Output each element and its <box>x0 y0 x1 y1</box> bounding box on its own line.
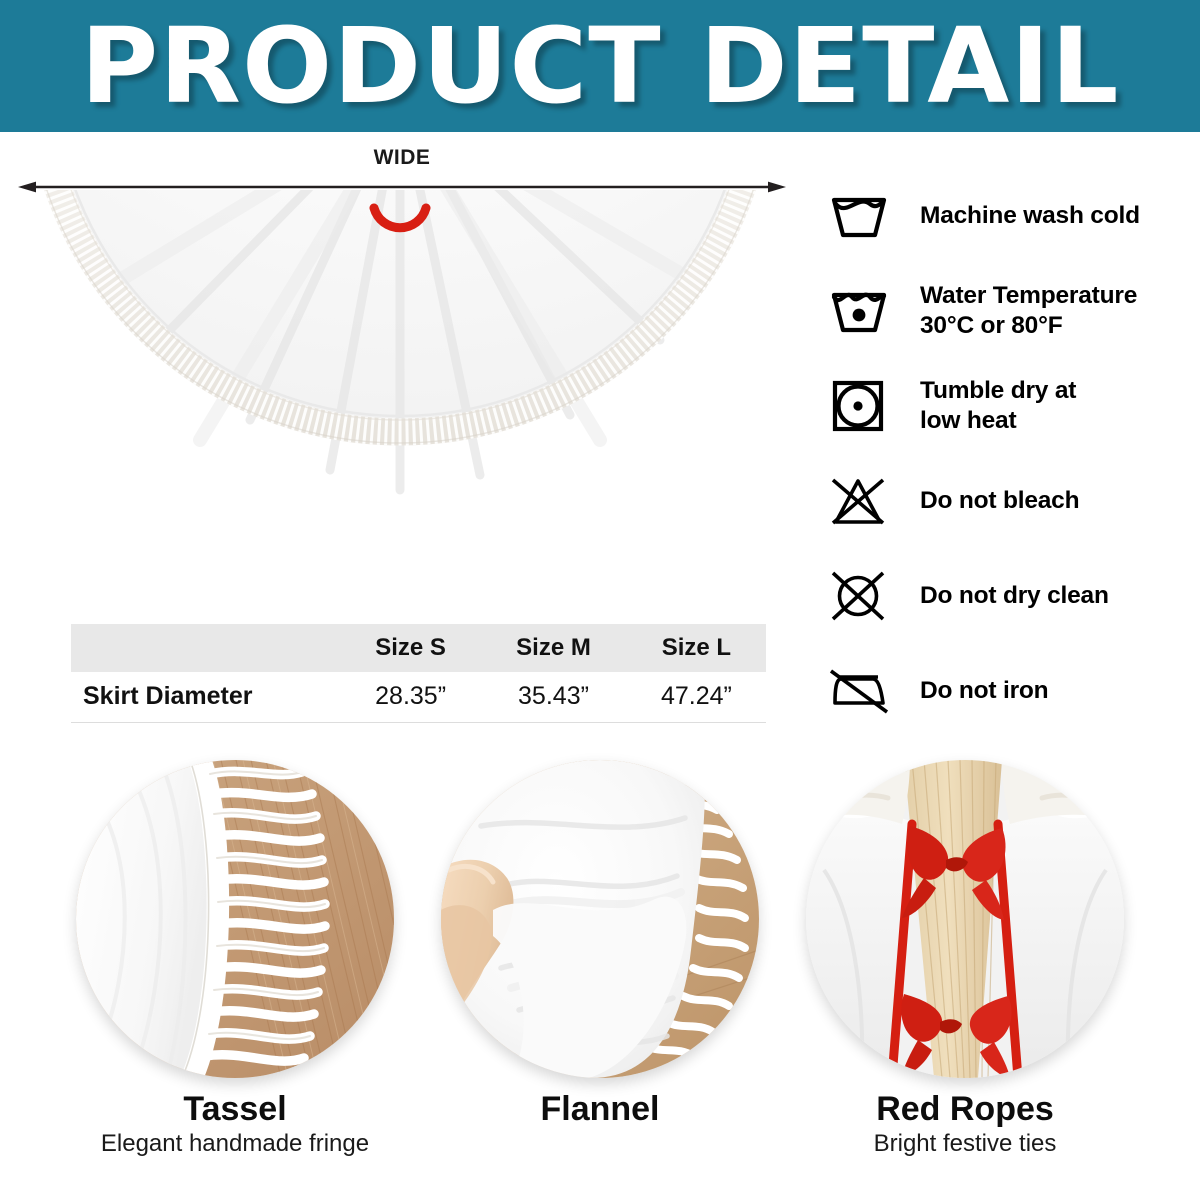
water-temperature-icon <box>828 280 900 342</box>
do-not-bleach-icon <box>828 470 900 532</box>
care-label-do-not-bleach: Do not bleach <box>900 486 1079 515</box>
care-row-do-not-bleach: Do not bleach <box>828 453 1196 548</box>
care-label-water-temperature: Water Temperature 30°C or 80°F <box>900 281 1137 340</box>
table-header-size-m: Size M <box>480 624 627 672</box>
care-instruction-list: Machine wash cold Water Temperature 30°C… <box>828 168 1196 738</box>
wide-dimension-callout: WIDE <box>18 146 786 194</box>
feature-title-red-ropes: Red Ropes <box>800 1090 1130 1128</box>
feature-red-ropes-photo <box>806 760 1124 1078</box>
table-header-corner <box>71 624 341 672</box>
table-cell-skirt-diameter-s: 28.35” <box>341 672 480 722</box>
feature-tassel: Tassel Elegant handmade fringe <box>70 760 400 1158</box>
feature-tassel-image-wrap <box>76 760 394 1078</box>
flannel-closeup-illustration <box>441 760 759 1078</box>
product-photo-tree-skirt <box>0 190 800 610</box>
feature-flannel-photo <box>441 760 759 1078</box>
red-ropes-closeup-illustration <box>806 760 1124 1078</box>
machine-wash-icon <box>828 185 900 247</box>
care-label-water-temperature-line2: 30°C or 80°F <box>920 311 1137 340</box>
page-title: PRODUCT DETAIL <box>80 14 1119 118</box>
feature-highlights: Tassel Elegant handmade fringe <box>0 760 1200 1200</box>
table-header-row: Size S Size M Size L <box>71 624 766 672</box>
care-label-tumble-dry-line1: Tumble dry at <box>920 376 1076 405</box>
feature-red-ropes-image-wrap <box>806 760 1124 1078</box>
care-label-machine-wash: Machine wash cold <box>900 201 1140 230</box>
care-label-do-not-dry-clean: Do not dry clean <box>900 581 1109 610</box>
feature-flannel: Flannel <box>435 760 765 1130</box>
tumble-dry-low-icon <box>828 375 900 437</box>
feature-red-ropes: Red Ropes Bright festive ties <box>800 760 1130 1158</box>
tassel-closeup-illustration <box>76 760 394 1078</box>
care-row-machine-wash: Machine wash cold <box>828 168 1196 263</box>
care-label-tumble-dry: Tumble dry at low heat <box>900 376 1076 435</box>
care-row-water-temperature: Water Temperature 30°C or 80°F <box>828 263 1196 358</box>
feature-subtitle-red-ropes: Bright festive ties <box>800 1130 1130 1158</box>
care-label-do-not-iron: Do not iron <box>900 676 1048 705</box>
feature-title-flannel: Flannel <box>435 1090 765 1128</box>
table-cell-skirt-diameter-m: 35.43” <box>480 672 627 722</box>
do-not-dry-clean-icon <box>828 565 900 627</box>
tree-skirt-illustration <box>0 190 800 610</box>
wide-label: WIDE <box>18 146 786 170</box>
product-detail-page: PRODUCT DETAIL WIDE <box>0 0 1200 1200</box>
table-row-label-skirt-diameter: Skirt Diameter <box>71 672 341 722</box>
table-header-size-l: Size L <box>627 624 766 672</box>
table-row: Skirt Diameter 28.35” 35.43” 47.24” <box>71 672 766 722</box>
care-row-do-not-iron: Do not iron <box>828 643 1196 738</box>
feature-subtitle-tassel: Elegant handmade fringe <box>70 1130 400 1158</box>
feature-title-tassel: Tassel <box>70 1090 400 1128</box>
care-label-tumble-dry-line2: low heat <box>920 406 1076 435</box>
feature-flannel-image-wrap <box>441 760 759 1078</box>
page-header-banner: PRODUCT DETAIL <box>0 0 1200 132</box>
care-row-tumble-dry: Tumble dry at low heat <box>828 358 1196 453</box>
care-row-do-not-dry-clean: Do not dry clean <box>828 548 1196 643</box>
care-label-water-temperature-line1: Water Temperature <box>920 281 1137 310</box>
table-header-size-s: Size S <box>341 624 480 672</box>
do-not-iron-icon <box>828 660 900 722</box>
feature-tassel-photo <box>76 760 394 1078</box>
size-chart-table: Size S Size M Size L Skirt Diameter 28.3… <box>71 624 766 723</box>
table-cell-skirt-diameter-l: 47.24” <box>627 672 766 722</box>
